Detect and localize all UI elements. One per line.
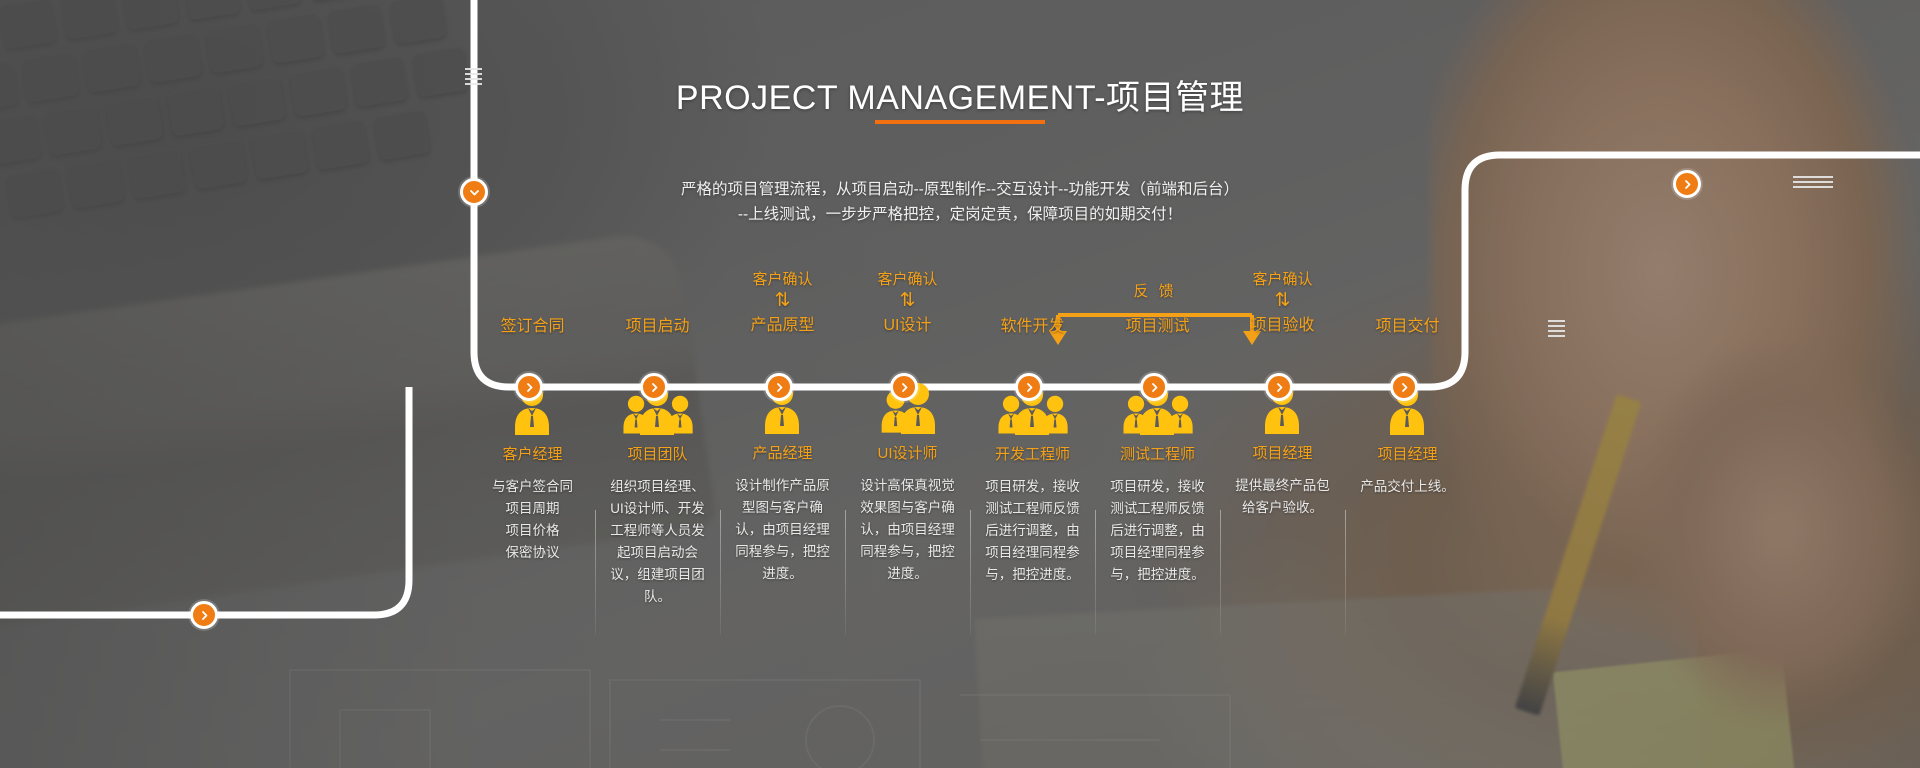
step-confirm-note: 客户确认⇅ [845,270,970,314]
timeline-step-6[interactable]: ⇅项目测试测试工程师项目研发，接收测试工程师反馈后进行调整，由项目经理同程参与，… [1095,270,1220,586]
column-separator [595,510,596,635]
step-confirm-note: 客户确认⇅ [1220,270,1345,314]
step-description: 组织项目经理、UI设计师、开发工程师等人员发起项目启动会议，组建项目团队。 [595,476,720,608]
step-node-4[interactable] [890,373,918,401]
step-node-5[interactable] [1015,373,1043,401]
step-role-label: 测试工程师 [1095,445,1220,465]
step-node-slot [1095,337,1220,377]
mid-edge-ticks [1548,320,1565,340]
step-node-2[interactable] [640,373,668,401]
step-description-line: 与客户签合同 [479,476,586,498]
page-title: PROJECT MANAGEMENT-项目管理 [0,70,1920,119]
column-separator [845,510,846,635]
chevron-right-icon [774,382,785,393]
step-description: 提供最终产品包给客户验收。 [1220,475,1345,519]
step-confirm-label: 客户确认 [877,271,937,288]
timeline-step-2[interactable]: ⇅项目启动项目团队组织项目经理、UI设计师、开发工程师等人员发起项目启动会议，组… [595,270,720,608]
step-role-label: UI设计师 [845,444,970,464]
up-down-arrows-icon: ⇅ [845,290,970,312]
chevron-right-icon [649,382,660,393]
step-node-slot [595,337,720,377]
column-separator [1345,510,1346,635]
timeline-step-1[interactable]: ⇅签订合同客户经理与客户签合同项目周期项目价格保密协议 [470,270,595,564]
step-node-slot [470,337,595,377]
chevron-right-icon [199,610,210,621]
step-description: 设计高保真视觉效果图与客户确认，由项目经理同程参与，把控进度。 [845,475,970,585]
step-label: 软件开发 [970,317,1095,337]
step-node-6[interactable] [1140,373,1168,401]
step-description-line: 保密协议 [479,542,586,564]
title-underline-rule [875,120,1045,124]
step-role-label: 产品经理 [720,444,845,464]
step-role-label: 客户经理 [470,445,595,465]
step-node-8[interactable] [1390,373,1418,401]
step-description: 项目研发，接收测试工程师反馈后进行调整，由项目经理同程参与，把控进度。 [1095,476,1220,586]
chevron-right-icon [1399,382,1410,393]
node-left-chevron-right[interactable] [190,601,218,629]
step-label: UI设计 [845,316,970,336]
chevron-right-icon [524,382,535,393]
column-separator [970,510,971,635]
timeline-step-3[interactable]: 客户确认⇅产品原型产品经理设计制作产品原型图与客户确认，由项目经理同程参与，把控… [720,270,845,585]
step-description: 产品交付上线。 [1345,476,1470,498]
chevron-right-icon [899,382,910,393]
step-node-7[interactable] [1265,373,1293,401]
step-confirm-label: 客户确认 [752,271,812,288]
step-label: 项目交付 [1345,317,1470,337]
step-description-line: 项目价格 [479,520,586,542]
step-node-slot [970,337,1095,377]
step-label: 签订合同 [470,317,595,337]
chevron-right-icon [1024,382,1035,393]
step-role-label: 项目经理 [1220,444,1345,464]
step-node-slot [720,336,845,376]
step-role-label: 项目经理 [1345,445,1470,465]
step-confirm-label: 客户确认 [1252,271,1312,288]
step-label: 项目测试 [1095,317,1220,337]
step-node-slot [845,336,970,376]
subtitle-line-2: --上线测试，一步步严格把控，定岗定责，保障项目的如期交付！ [0,202,1920,227]
timeline-step-4[interactable]: 客户确认⇅UI设计UI设计师设计高保真视觉效果图与客户确认，由项目经理同程参与，… [845,270,970,585]
up-down-arrows-icon: ⇅ [1220,290,1345,312]
step-node-1[interactable] [515,373,543,401]
step-label: 项目验收 [1220,316,1345,336]
step-description: 项目研发，接收测试工程师反馈后进行调整，由项目经理同程参与，把控进度。 [970,476,1095,586]
step-node-slot [1345,337,1470,377]
step-node-3[interactable] [765,373,793,401]
step-description-line: 项目周期 [479,498,586,520]
step-role-label: 项目团队 [595,445,720,465]
step-description: 设计制作产品原型图与客户确认，由项目经理同程参与，把控进度。 [720,475,845,585]
chevron-right-icon [1274,382,1285,393]
subtitle-line-1: 严格的项目管理流程，从项目启动--原型制作--交互设计--功能开发（前端和后台） [0,177,1920,202]
step-description: 与客户签合同项目周期项目价格保密协议 [470,476,595,564]
column-separator [1220,510,1221,635]
column-separator [720,510,721,635]
up-down-arrows-icon: ⇅ [720,290,845,312]
step-node-slot [1220,336,1345,376]
project-timeline-steps: ⇅签订合同客户经理与客户签合同项目周期项目价格保密协议⇅项目启动项目团队组织项目… [470,270,1470,700]
timeline-step-5[interactable]: ⇅软件开发开发工程师项目研发，接收测试工程师反馈后进行调整，由项目经理同程参与，… [970,270,1095,586]
step-label: 产品原型 [720,316,845,336]
step-label: 项目启动 [595,317,720,337]
step-confirm-note: 客户确认⇅ [720,270,845,314]
column-separator [1095,510,1096,635]
step-role-label: 开发工程师 [970,445,1095,465]
chevron-right-icon [1149,382,1160,393]
page-subtitle: 严格的项目管理流程，从项目启动--原型制作--交互设计--功能开发（前端和后台）… [0,177,1920,227]
